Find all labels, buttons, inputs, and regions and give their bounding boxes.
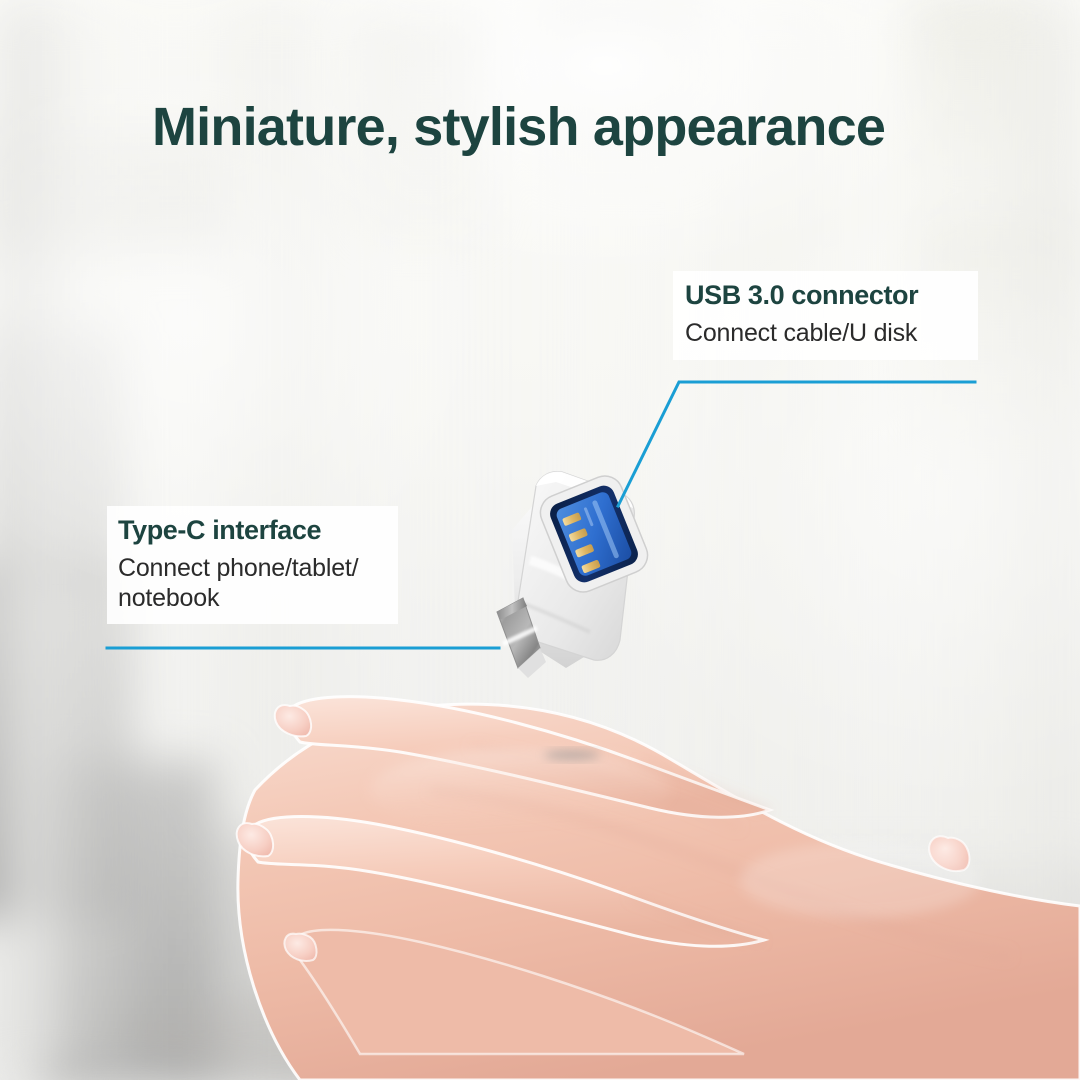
leader-line-usb [618,382,975,506]
page-title: Miniature, stylish appearance [152,96,885,158]
callout-usb-subtitle: Connect cable/U disk [685,318,964,349]
callout-typec-subtitle-line-2: notebook [118,583,386,614]
callout-type-c: Type-C interface Connect phone/tablet/ n… [107,506,398,624]
callout-usb-3-0: USB 3.0 connector Connect cable/U disk [673,271,978,360]
callout-usb-title: USB 3.0 connector [685,281,964,311]
product-marketing-image: Miniature, stylish appearance USB 3.0 co… [0,0,1080,1080]
callout-typec-subtitle-line-1: Connect phone/tablet/ [118,553,386,584]
callout-typec-title: Type-C interface [118,516,386,546]
callout-typec-subtitle: Connect phone/tablet/ notebook [118,553,386,614]
